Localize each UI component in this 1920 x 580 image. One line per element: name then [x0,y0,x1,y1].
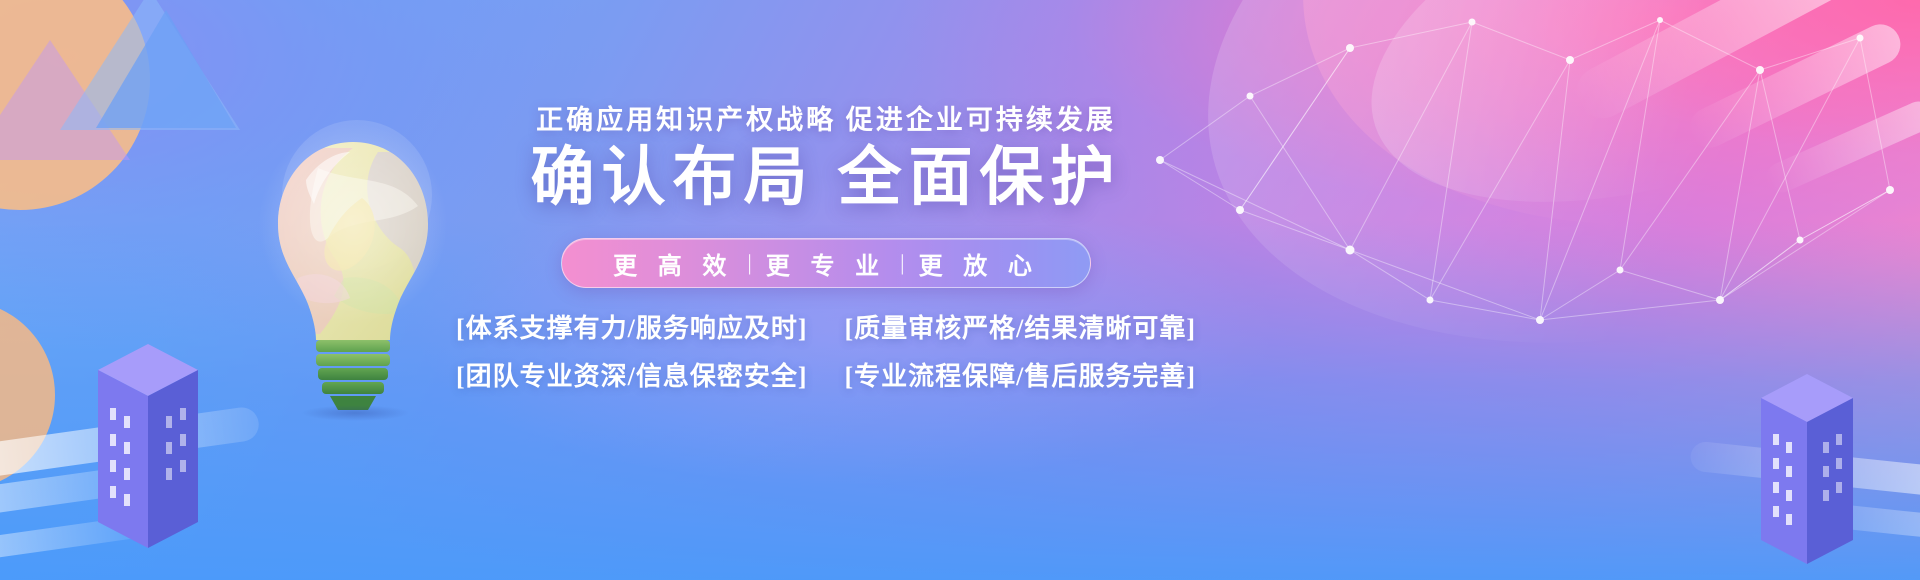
promo-banner: 正确应用知识产权战略 促进企业可持续发展 确认布局 全面保护 更 高 效 | 更… [0,0,1920,580]
feature-2-left: [团队专业资深/信息保密安全] [456,362,808,391]
benefits-pill-row: 更 高 效 | 更 专 业 | 更 放 心 [0,238,1786,288]
pill-segment-3: 更 放 心 [915,246,1043,281]
banner-headline: 确认布局 全面保护 [0,142,1786,214]
pill-segment-2: 更 专 业 [762,246,890,281]
feature-line-2: [团队专业资深/信息保密安全] [专业流程保障/售后服务完善] [0,356,1786,393]
banner-subtitle: 正确应用知识产权战略 促进企业可持续发展 [0,98,1786,137]
feature-2-right: [专业流程保障/售后服务完善] [845,362,1197,391]
banner-content: 正确应用知识产权战略 促进企业可持续发展 确认布局 全面保护 更 高 效 | 更… [0,0,1920,580]
feature-1-right: [质量审核严格/结果清晰可靠] [845,314,1197,343]
feature-1-left: [体系支撑有力/服务响应及时] [456,314,808,343]
pill-separator-2: | [890,250,914,276]
pill-separator-1: | [737,250,761,276]
benefits-pill: 更 高 效 | 更 专 业 | 更 放 心 [561,238,1091,288]
feature-line-1: [体系支撑有力/服务响应及时] [质量审核严格/结果清晰可靠] [0,308,1786,345]
pill-segment-1: 更 高 效 [609,246,737,281]
